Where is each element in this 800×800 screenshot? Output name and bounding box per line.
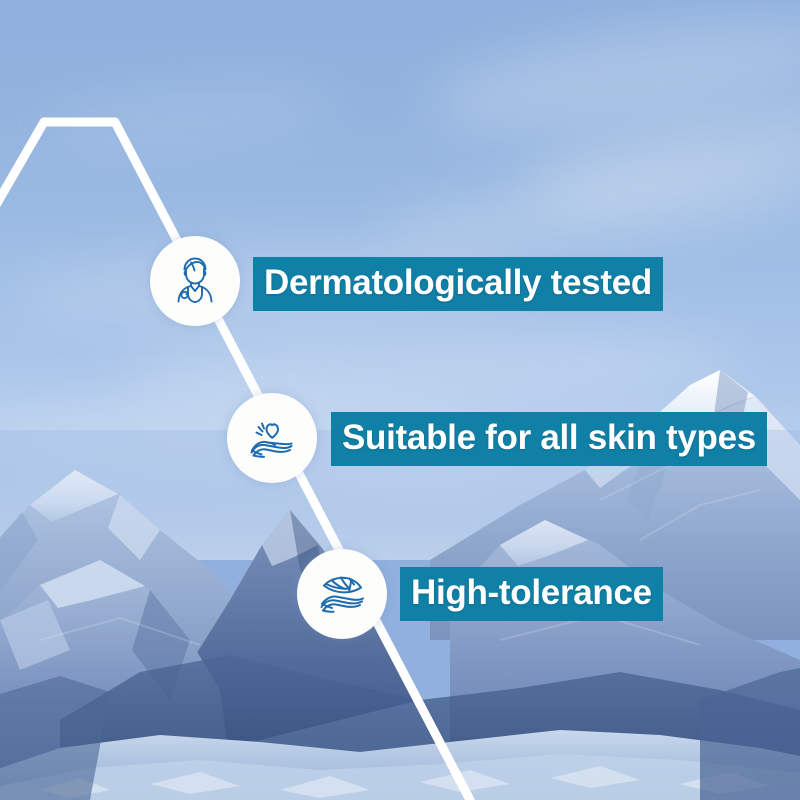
hand-feather-icon [313, 565, 371, 623]
mountain-landscape-image [0, 0, 800, 800]
claim-label-dermatologically-tested: Dermatologically tested [253, 257, 663, 311]
slide-canvas: Dermatologically tested Suitable for all… [0, 0, 800, 800]
claim-icon-bubble-high-tolerance[interactable] [297, 549, 387, 639]
claim-icon-bubble-dermatologically-tested[interactable] [150, 236, 240, 326]
claim-label-suitable-for-all-skin-types: Suitable for all skin types [331, 412, 767, 466]
doctor-stethoscope-icon [167, 253, 223, 309]
hand-heart-icon [243, 409, 301, 467]
claim-icon-bubble-suitable-for-all-skin-types[interactable] [227, 393, 317, 483]
claim-label-high-tolerance: High-tolerance [400, 567, 663, 621]
